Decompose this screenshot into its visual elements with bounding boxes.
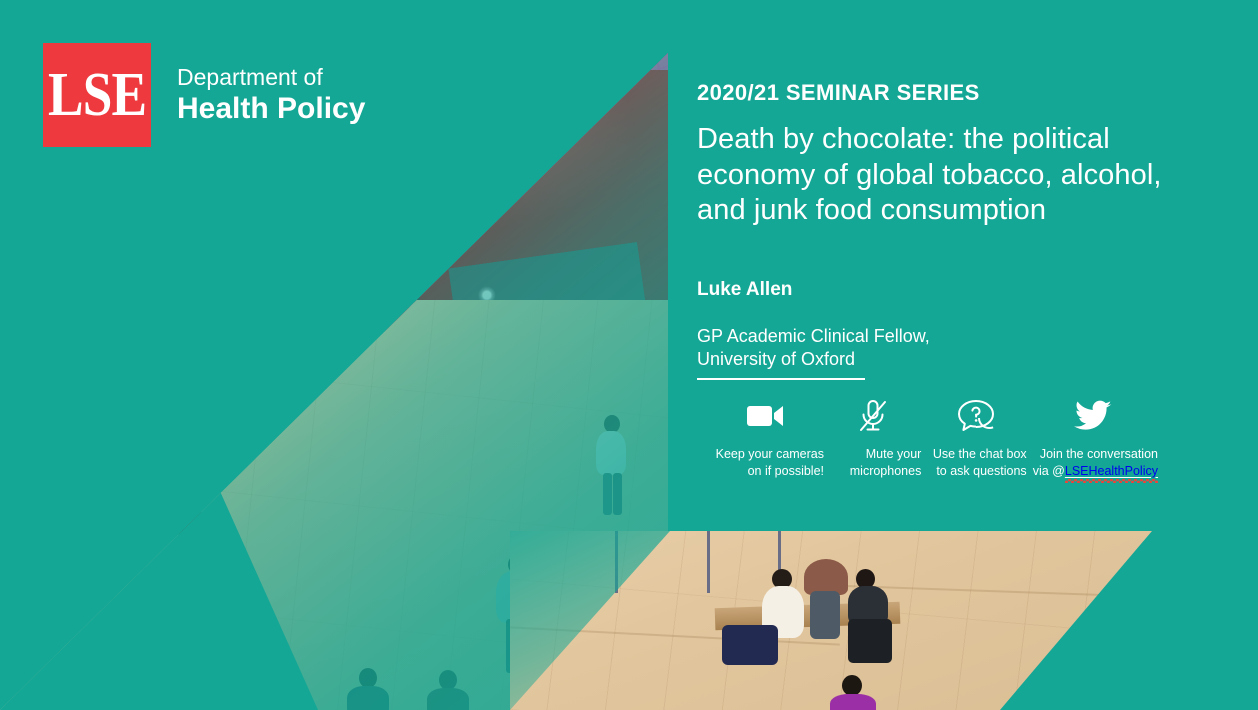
department-name: Health Policy — [177, 91, 365, 126]
meeting-instructions: Keep your cameras on if possible! Mute y… — [706, 396, 1158, 479]
seminar-title: Death by chocolate: the political econom… — [697, 122, 1167, 229]
twitter-handle-link[interactable]: LSEHealthPolicy — [1065, 464, 1158, 478]
instruction-caption: Join the conversation via @LSEHealthPoli… — [1028, 446, 1158, 479]
microphone-muted-icon — [858, 396, 888, 436]
lse-logo-lockup: LSE Department of Health Policy — [43, 43, 365, 147]
bag-detail — [722, 625, 778, 665]
instruction-caption: Keep your cameras on if possible! — [706, 446, 824, 479]
twitter-bird-icon — [1074, 396, 1112, 436]
lse-logo-mark-text: LSE — [48, 64, 146, 126]
department-lockup-text: Department of Health Policy — [177, 64, 365, 127]
series-kicker: 2020/21 SEMINAR SERIES — [697, 80, 1167, 106]
railing-detail — [707, 531, 710, 593]
presentation-slide: LSE Department of Health Policy 2020/21 … — [0, 0, 1258, 710]
standing-person — [802, 559, 850, 639]
instruction-caption: Use the chat box to ask questions — [923, 446, 1027, 479]
video-camera-icon — [746, 396, 784, 436]
department-label: Department of — [177, 64, 365, 91]
instruction-twitter: Join the conversation via @LSEHealthPoli… — [1028, 396, 1158, 479]
speaker-name: Luke Allen — [697, 279, 1167, 301]
seminar-details: 2020/21 SEMINAR SERIES Death by chocolat… — [697, 80, 1167, 380]
speaker-affiliation: GP Academic Clinical Fellow, University … — [697, 325, 1167, 372]
bag-detail — [848, 619, 892, 663]
instruction-caption: Mute your microphones — [825, 446, 921, 479]
instruction-chat: Use the chat box to ask questions — [923, 396, 1027, 479]
chat-question-icon — [956, 396, 994, 436]
instruction-cameras: Keep your cameras on if possible! — [706, 396, 824, 479]
affiliation-rule — [697, 378, 865, 380]
lse-logo-mark: LSE — [43, 43, 151, 147]
instruction-microphones: Mute your microphones — [825, 396, 921, 479]
seated-person — [828, 675, 878, 710]
